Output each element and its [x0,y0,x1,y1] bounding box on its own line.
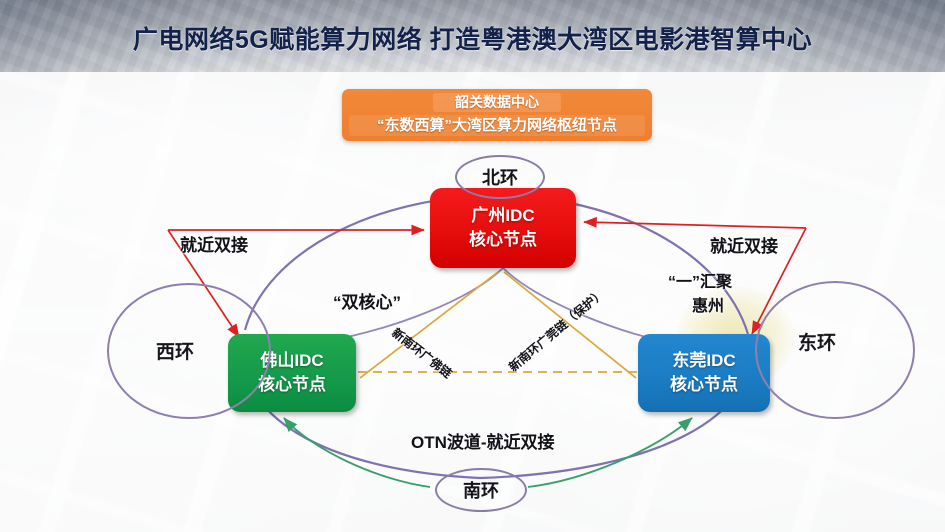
ring-label-north: 北环 [455,155,545,199]
annotation-dual-connect-left: 就近双接 [180,231,248,256]
node-dongguan-subtitle: 核心节点 [670,373,738,397]
slide-canvas: 广电网络5G赋能算力网络 打造粤港澳大湾区电影港智算中心 [0,0,945,532]
annotation-dual-connect-right: 就近双接 [710,232,778,257]
ring-label-south: 南环 [435,468,527,512]
node-foshan-subtitle: 核心节点 [258,373,326,397]
hub-node-label: “东数西算”大湾区算力网络枢纽节点 [349,115,645,136]
node-dongguan-idc[interactable]: 东莞IDC 核心节点 [638,334,770,412]
shaoguan-data-center-label: 韶关数据中心 [433,93,561,112]
node-guangzhou-subtitle: 核心节点 [469,228,537,252]
node-guangzhou-idc[interactable]: 广州IDC 核心节点 [430,188,576,268]
shaoguan-header-box[interactable]: 韶关数据中心 “东数西算”大湾区算力网络枢纽节点 [342,89,652,141]
annotation-huizhou-aggregate: “一”汇聚 [668,268,732,292]
ring-label-east: 东环 [798,328,836,355]
node-dongguan-title: 东莞IDC [672,349,735,373]
annotation-otn-wavelength: OTN波道-就近双接 [411,428,555,453]
node-guangzhou-title: 广州IDC [471,204,534,228]
annotation-dual-core: “双核心” [333,288,401,313]
annotation-huizhou-name: 惠州 [692,292,724,316]
ring-label-west: 西环 [156,337,194,364]
